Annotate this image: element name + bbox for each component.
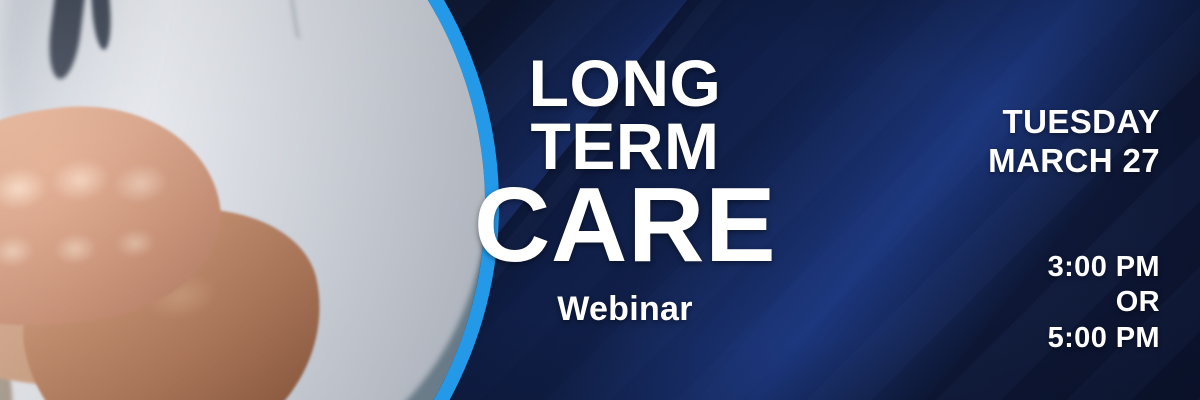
title-line-care: CARE bbox=[420, 177, 830, 275]
schedule-date: MARCH 27 bbox=[988, 142, 1160, 181]
title-subtitle-webinar: Webinar bbox=[420, 290, 830, 329]
title-block: LONG TERM CARE Webinar bbox=[420, 52, 830, 329]
schedule-time-block: 3:00 PM OR 5:00 PM bbox=[1048, 250, 1160, 356]
title-line-long: LONG bbox=[420, 52, 830, 115]
schedule-date-block: TUESDAY MARCH 27 bbox=[988, 103, 1160, 180]
photo-grain-overlay bbox=[0, 0, 485, 400]
doctor-patient-hands-photo bbox=[0, 0, 485, 400]
photo-circle-mask bbox=[0, 0, 485, 400]
schedule-day: TUESDAY bbox=[988, 103, 1160, 142]
schedule-time-second: 5:00 PM bbox=[1048, 321, 1160, 356]
schedule-time-separator: OR bbox=[1048, 285, 1160, 320]
long-term-care-webinar-banner: LONG TERM CARE Webinar TUESDAY MARCH 27 … bbox=[0, 0, 1200, 400]
schedule-time-first: 3:00 PM bbox=[1048, 250, 1160, 285]
